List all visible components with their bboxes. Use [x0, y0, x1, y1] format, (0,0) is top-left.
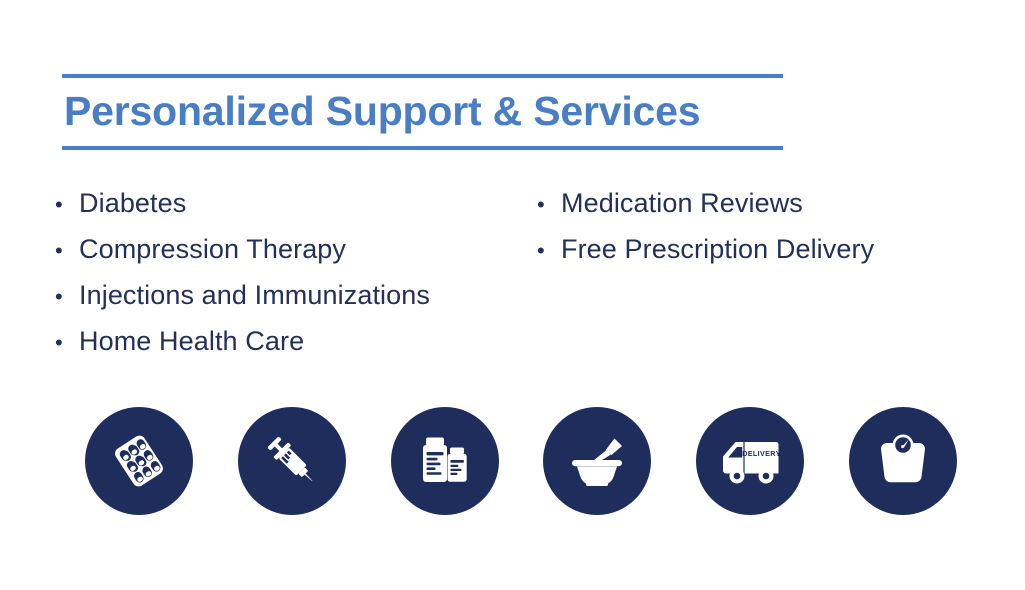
- list-item-label: Home Health Care: [79, 318, 304, 364]
- list-item-label: Diabetes: [79, 180, 186, 226]
- list-item-label: Injections and Immunizations: [79, 272, 430, 318]
- mortar-and-pestle-icon: [566, 430, 628, 492]
- weight-scale-icon: [872, 430, 934, 492]
- list-item: • Free Prescription Delivery: [537, 226, 1007, 272]
- list-item-label: Medication Reviews: [561, 180, 803, 226]
- services-list-left: • Diabetes • Compression Therapy • Injec…: [55, 180, 525, 364]
- services-list-right: • Medication Reviews • Free Prescription…: [537, 180, 1007, 272]
- list-item: • Medication Reviews: [537, 180, 1007, 226]
- page-title: Personalized Support & Services: [62, 78, 783, 146]
- bullet-marker-icon: •: [55, 228, 79, 274]
- title-rule-bottom: [62, 146, 783, 150]
- icon-badge-blister-pack: [85, 407, 193, 515]
- list-item-label: Free Prescription Delivery: [561, 226, 874, 272]
- icon-badge-delivery-van: DELIVERY: [696, 407, 804, 515]
- bullet-marker-icon: •: [55, 274, 79, 320]
- icon-badge-syringe: [238, 407, 346, 515]
- list-item: • Diabetes: [55, 180, 525, 226]
- pill-bottles-icon: [414, 430, 476, 492]
- syringe-icon: [261, 430, 323, 492]
- bullet-marker-icon: •: [55, 320, 79, 366]
- list-item: • Compression Therapy: [55, 226, 525, 272]
- title-block: Personalized Support & Services: [62, 74, 783, 150]
- list-item: • Injections and Immunizations: [55, 272, 525, 318]
- blister-pack-icon: [108, 430, 170, 492]
- icon-badge-weight-scale: [849, 407, 957, 515]
- icon-badge-pill-bottles: [391, 407, 499, 515]
- service-icon-row: DELIVERY: [85, 406, 957, 516]
- bullet-marker-icon: •: [537, 228, 561, 274]
- services-lists: • Diabetes • Compression Therapy • Injec…: [0, 180, 1025, 370]
- list-item: • Home Health Care: [55, 318, 525, 364]
- slide-root: Personalized Support & Services • Diabet…: [0, 0, 1025, 590]
- bullet-marker-icon: •: [55, 182, 79, 228]
- bullet-marker-icon: •: [537, 182, 561, 228]
- van-delivery-text: DELIVERY: [742, 449, 780, 458]
- list-item-label: Compression Therapy: [79, 226, 346, 272]
- delivery-van-icon: DELIVERY: [717, 428, 783, 494]
- icon-badge-mortar-pestle: [543, 407, 651, 515]
